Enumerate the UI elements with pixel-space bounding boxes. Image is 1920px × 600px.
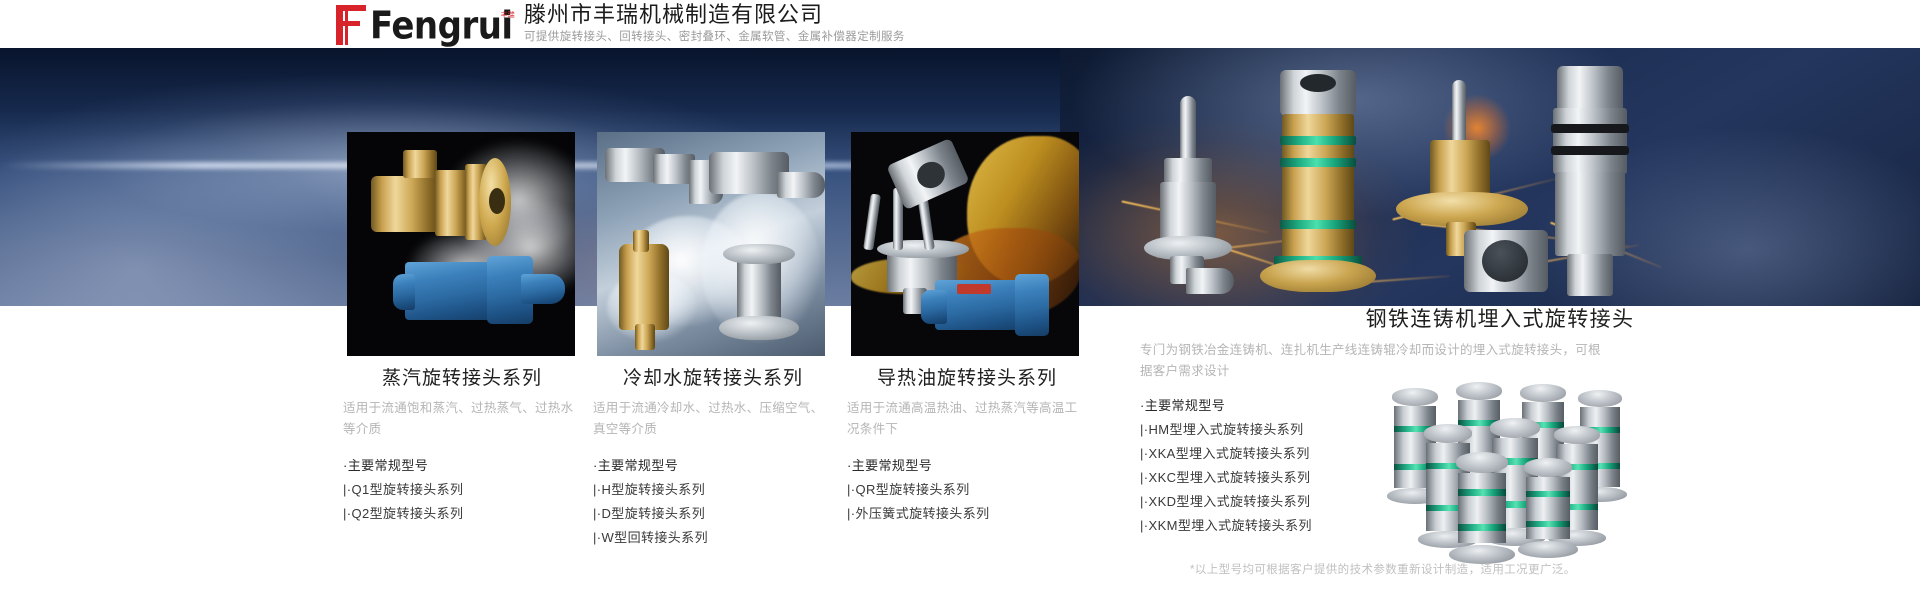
column-description: 适用于流通高温热油、过热蒸汽等高温工况条件下 [847,398,1087,440]
product-column-steam: 蒸汽旋转接头系列 适用于流通饱和蒸汽、过热蒸气、过热水等介质 ·主要常规型号 |… [343,366,581,526]
hero-joint-steel-tall [1545,58,1635,306]
embedded-joint-panel: 钢铁连铸机埋入式旋转接头 专门为钢铁冶金连铸机、连扎机生产线连铸辊冷却而设计的埋… [1140,305,1860,538]
model-list-heading: ·主要常规型号 [1140,394,1860,418]
column-model-list: ·主要常规型号 |·H型旋转接头系列 |·D型旋转接头系列 |·W型回转接头系列 [593,454,833,550]
column-description: 适用于流通饱和蒸汽、过热蒸气、过热水等介质 [343,398,581,440]
panel-title: 钢铁连铸机埋入式旋转接头 [1140,305,1860,335]
model-list-item[interactable]: |·W型回转接头系列 [593,526,833,550]
panel-model-list: ·主要常规型号 |·HM型埋入式旋转接头系列 |·XKA型埋入式旋转接头系列 |… [1140,394,1860,538]
product-photo-steam[interactable] [347,132,575,356]
column-title: 导热油旋转接头系列 [847,366,1087,392]
header-title-block: 滕州市丰瑞机械制造有限公司 可提供旋转接头、回转接头、密封叠环、金属软管、金属补… [524,2,905,45]
company-logo[interactable]: Fengrui 丰瑞 [336,3,513,45]
product-column-cooling-water: 冷却水旋转接头系列 适用于流通冷却水、过热水、压缩空气、真空等介质 ·主要常规型… [593,366,833,550]
column-description: 适用于流通冷却水、过热水、压缩空气、真空等介质 [593,398,833,440]
model-list-item[interactable]: |·HM型埋入式旋转接头系列 [1140,418,1860,442]
model-list-item[interactable]: |·H型旋转接头系列 [593,478,833,502]
product-photo-cooling-water[interactable] [597,132,825,356]
model-list-heading: ·主要常规型号 [593,454,833,478]
hero-joint-brass-oring [1258,70,1378,306]
product-column-thermal-oil: 导热油旋转接头系列 适用于流通高温热油、过热蒸汽等高温工况条件下 ·主要常规型号… [847,366,1087,526]
model-list-item[interactable]: |·D型旋转接头系列 [593,502,833,526]
panel-footnote: *以上型号均可根据客户提供的技术参数重新设计制造，适用工况更广泛。 [1190,561,1576,577]
hero-joint-steel-small [1140,96,1236,306]
model-list-item[interactable]: |·XKA型埋入式旋转接头系列 [1140,442,1860,466]
logo-f-mark-icon [336,5,372,45]
company-name: 滕州市丰瑞机械制造有限公司 [524,2,905,28]
company-tagline: 可提供旋转接头、回转接头、密封叠环、金属软管、金属补偿器定制服务 [524,30,905,45]
model-list-item[interactable]: |·Q1型旋转接头系列 [343,478,581,502]
panel-description: 专门为钢铁冶金连铸机、连扎机生产线连铸辊冷却而设计的埋入式旋转接头，可根据客户需… [1140,340,1610,382]
model-list-item[interactable]: |·XKD型埋入式旋转接头系列 [1140,490,1860,514]
column-model-list: ·主要常规型号 |·Q1型旋转接头系列 |·Q2型旋转接头系列 [343,454,581,526]
model-list-item[interactable]: |·外压簧式旋转接头系列 [847,502,1087,526]
model-list-heading: ·主要常规型号 [343,454,581,478]
logo-wordmark: Fengrui [370,7,513,45]
hero-joint-brass-flange [1390,80,1560,306]
model-list-item[interactable]: |·XKM型埋入式旋转接头系列 [1140,514,1860,538]
column-model-list: ·主要常规型号 |·QR型旋转接头系列 |·外压簧式旋转接头系列 [847,454,1087,526]
model-list-heading: ·主要常规型号 [847,454,1087,478]
model-list-item[interactable]: |·Q2型旋转接头系列 [343,502,581,526]
column-title: 冷却水旋转接头系列 [593,366,833,392]
product-photo-thermal-oil[interactable] [851,132,1079,356]
column-title: 蒸汽旋转接头系列 [343,366,581,392]
model-list-item[interactable]: |·QR型旋转接头系列 [847,478,1087,502]
logo-chinese-mark: 丰瑞 [501,10,515,20]
site-header: Fengrui 丰瑞 滕州市丰瑞机械制造有限公司 可提供旋转接头、回转接头、密封… [0,0,1920,48]
promo-banner-page: Fengrui 丰瑞 滕州市丰瑞机械制造有限公司 可提供旋转接头、回转接头、密封… [0,0,1920,600]
model-list-item[interactable]: |·XKC型埋入式旋转接头系列 [1140,466,1860,490]
